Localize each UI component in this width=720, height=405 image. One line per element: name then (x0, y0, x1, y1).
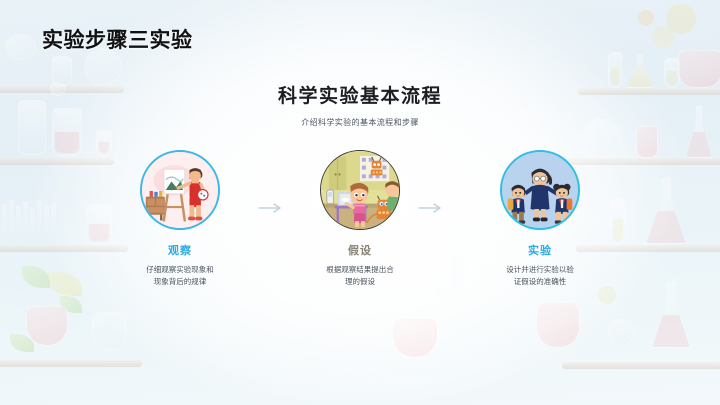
step-observe[interactable]: 观察 仔细观察实验现象和 现象背后的规律 (120, 150, 240, 287)
step-experiment[interactable]: 实验 设计并进行实验以验 证假设的准确性 (480, 150, 600, 287)
step-hypothesis-description: 根据观察结果提出合 理的假设 (306, 264, 414, 287)
main-heading: 科学实验基本流程 (0, 81, 720, 108)
step-hypothesis-desc-line1: 根据观察结果提出合 (326, 265, 394, 274)
teacher-with-students-icon (502, 152, 578, 228)
step-observe-desc-line2: 现象背后的规律 (154, 277, 207, 286)
step-hypothesis-image (320, 150, 400, 230)
main-subtitle: 介绍科学实验的基本流程和步骤 (0, 117, 720, 128)
step-experiment-description: 设计并进行实验以验 证假设的准确性 (486, 264, 594, 287)
step-experiment-desc-line1: 设计并进行实验以验 (506, 265, 574, 274)
child-at-laptop-with-robots-icon (321, 151, 399, 229)
step-observe-description: 仔细观察实验现象和 现象背后的规律 (126, 264, 234, 287)
step-observe-image (140, 150, 220, 230)
step-experiment-label: 实验 (528, 242, 552, 258)
step-hypothesis[interactable]: 假设 根据观察结果提出合 理的假设 (300, 150, 420, 287)
slide-content: 实验步骤三实验 科学实验基本流程 介绍科学实验的基本流程和步骤 (0, 0, 720, 405)
step-hypothesis-label: 假设 (348, 242, 372, 258)
step-experiment-desc-line2: 证假设的准确性 (514, 277, 567, 286)
step-hypothesis-desc-line2: 理的假设 (345, 277, 375, 286)
step-observe-desc-line1: 仔细观察实验现象和 (146, 265, 214, 274)
page-title: 实验步骤三实验 (42, 24, 193, 54)
slide-canvas: 实验步骤三实验 科学实验基本流程 介绍科学实验的基本流程和步骤 (0, 0, 720, 405)
process-steps: 观察 仔细观察实验现象和 现象背后的规律 (120, 150, 600, 330)
step-experiment-image (500, 150, 580, 230)
boy-painting-at-easel-icon (142, 152, 218, 228)
step-observe-label: 观察 (168, 242, 192, 258)
